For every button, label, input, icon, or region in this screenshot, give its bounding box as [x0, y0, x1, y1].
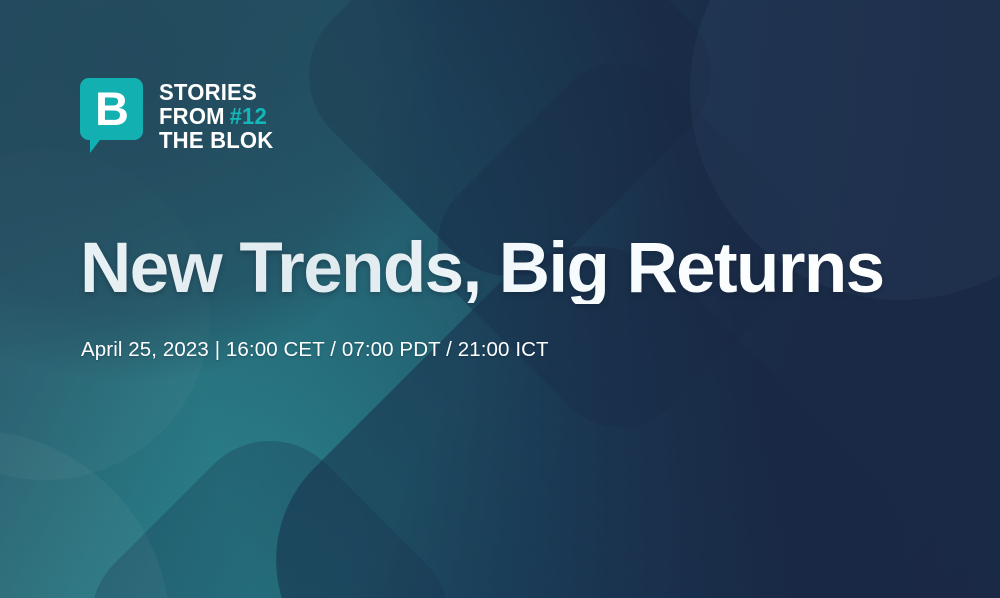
speech-bubble-b-logo-icon: B: [80, 78, 143, 140]
issue-number-badge: #12: [230, 103, 267, 129]
logo-letter: B: [80, 78, 143, 140]
page-title: New Trends, Big Returns: [80, 233, 884, 304]
wordmark-line-2-text: FROM: [159, 103, 225, 129]
brand-wordmark: STORIES FROM#12 THE BLOK: [159, 78, 273, 152]
webinar-promo-banner: B STORIES FROM#12 THE BLOK New Trends, B…: [0, 0, 1000, 598]
wordmark-line-2: FROM#12: [159, 104, 273, 128]
brand-logo-lockup[interactable]: B STORIES FROM#12 THE BLOK: [80, 78, 278, 152]
wordmark-line-1: STORIES: [159, 80, 273, 104]
wordmark-line-3: THE BLOK: [159, 128, 273, 152]
event-datetime-subtitle: April 25, 2023 | 16:00 CET / 07:00 PDT /…: [81, 338, 549, 362]
